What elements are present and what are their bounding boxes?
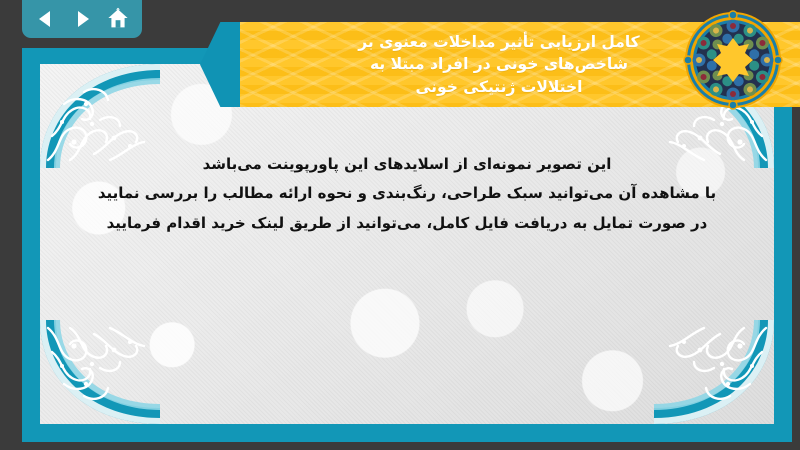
- body-line-2: با مشاهده آن می‌توانید سبک طراحی، رنگ‌بن…: [78, 179, 736, 208]
- body-line-1: این تصویر نمونه‌ای از اسلایدهای این پاور…: [78, 150, 736, 179]
- triangle-left-icon: [35, 8, 57, 30]
- slide-content-panel: این تصویر نمونه‌ای از اسلایدهای این پاور…: [22, 48, 792, 442]
- corner-arabesque-ornament-bottom-left: [40, 320, 160, 424]
- slide-root: این تصویر نمونه‌ای از اسلایدهای این پاور…: [0, 0, 800, 450]
- slide-body-text: این تصویر نمونه‌ای از اسلایدهای این پاور…: [40, 150, 774, 238]
- home-button[interactable]: [105, 6, 131, 32]
- forward-button[interactable]: [69, 6, 95, 32]
- body-line-3: در صورت تمایل به دریافت فایل کامل، می‌تو…: [78, 209, 736, 238]
- home-icon: [106, 7, 130, 31]
- persian-medallion-ornament: [683, 10, 783, 110]
- back-button[interactable]: [33, 6, 59, 32]
- corner-arabesque-ornament-bottom-right: [654, 320, 774, 424]
- slide-canvas: این تصویر نمونه‌ای از اسلایدهای این پاور…: [40, 64, 774, 424]
- navigation-bar: [22, 0, 142, 38]
- triangle-right-icon: [71, 8, 93, 30]
